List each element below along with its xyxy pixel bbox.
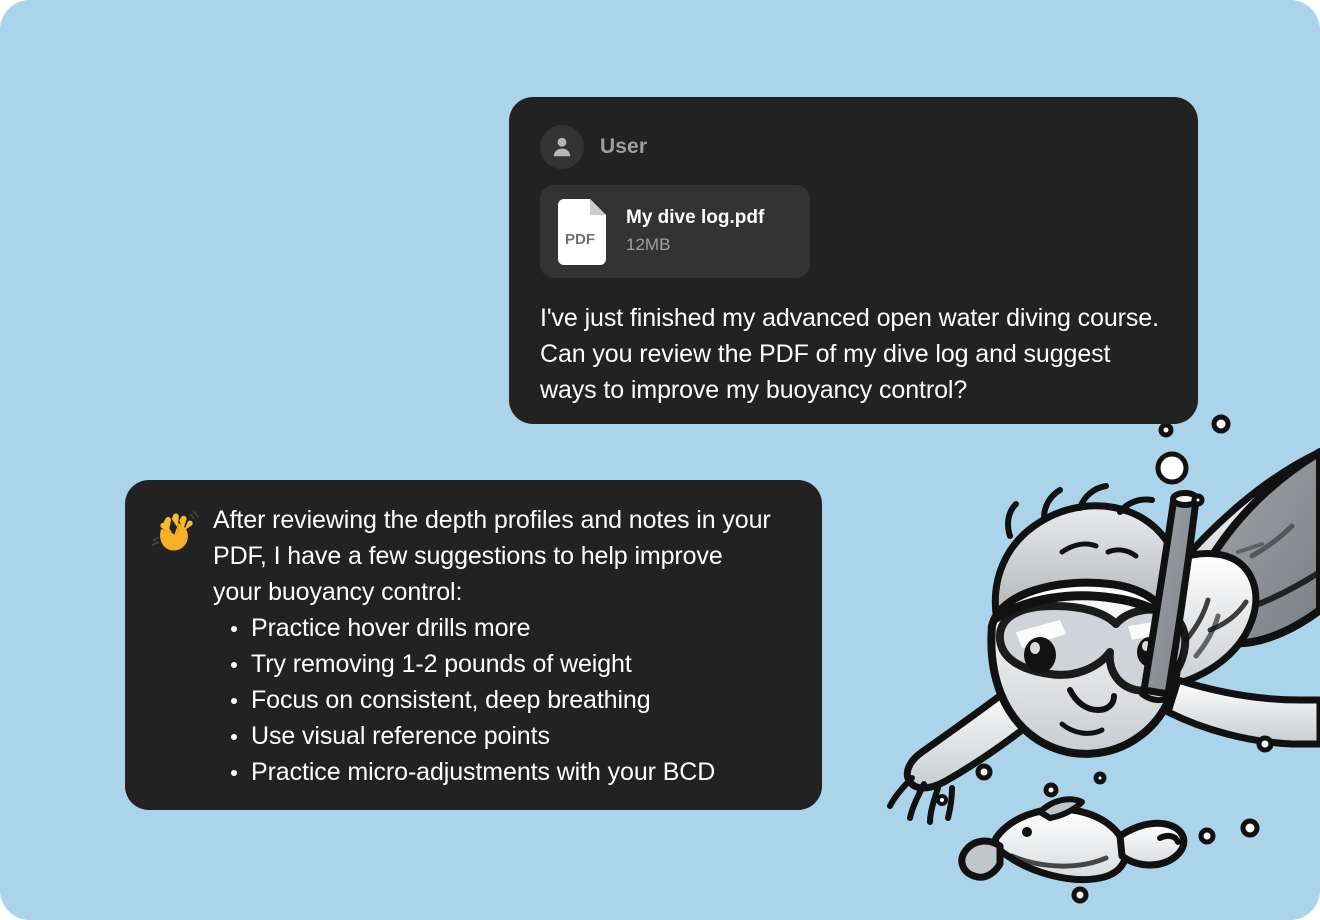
suggestions-list: Practice hover drills more Try removing … (213, 610, 773, 790)
assistant-message-bubble: After reviewing the depth profiles and n… (125, 480, 822, 810)
list-item: Practice hover drills more (213, 610, 773, 646)
list-item: Use visual reference points (213, 718, 773, 754)
assistant-message-text: After reviewing the depth profiles and n… (213, 502, 773, 790)
list-item: Try removing 1-2 pounds of weight (213, 646, 773, 682)
avatar (540, 125, 584, 169)
list-item: Practice micro-adjustments with your BCD (213, 754, 773, 790)
attachment-meta: My dive log.pdf 12MB (626, 206, 764, 257)
person-icon (549, 134, 575, 160)
pdf-file-icon: PDF (554, 199, 610, 265)
user-message-bubble: User PDF My dive log.pdf 12MB I've just … (509, 97, 1198, 424)
user-message-text: I've just finished my advanced open wate… (540, 300, 1164, 408)
app-canvas: User PDF My dive log.pdf 12MB I've just … (0, 0, 1320, 920)
pdf-icon-label: PDF (565, 231, 595, 248)
fish-illustration (962, 799, 1184, 879)
waving-hand-icon (149, 506, 201, 558)
user-message-header: User (540, 123, 1164, 171)
snorkeler-figure (890, 452, 1320, 822)
list-item: Focus on consistent, deep breathing (213, 682, 773, 718)
attachment-card[interactable]: PDF My dive log.pdf 12MB (540, 185, 810, 278)
attachment-file-name: My dive log.pdf (626, 206, 764, 230)
assistant-intro-text: After reviewing the depth profiles and n… (213, 502, 773, 610)
message-author: User (600, 135, 647, 159)
assistant-message-body: After reviewing the depth profiles and n… (149, 502, 792, 790)
air-bubbles (938, 385, 1271, 901)
attachment-file-size: 12MB (626, 233, 764, 257)
